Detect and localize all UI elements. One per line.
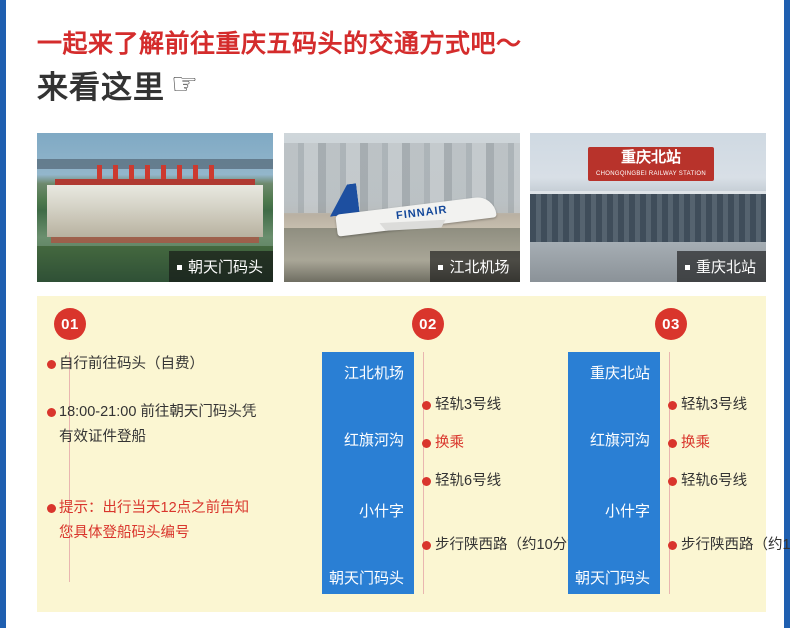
station-building-decor <box>530 191 766 246</box>
step-badge-03: 03 <box>655 308 687 340</box>
route-leg-walk: 步行陕西路（约10分钟） <box>681 534 790 556</box>
station-sign-en: CHONGQINGBEI RAILWAY STATION <box>588 166 714 183</box>
page-root: 一起来了解前往重庆五码头的交通方式吧～ 来看这里 ☞ 朝天门码头 FINNAIR… <box>0 0 790 628</box>
timeline-item-note: 提示：出行当天12点之前告知您具体登船码头编号 <box>59 496 259 546</box>
route-leg-transfer: 换乘 <box>681 432 710 454</box>
route-dot-icon <box>668 439 677 448</box>
route-leg-text: 轻轨3号线 <box>435 397 501 413</box>
route-dot-icon <box>422 541 431 550</box>
route-station: 小什字 <box>605 500 650 521</box>
route-dot-icon <box>668 541 677 550</box>
station-sign: 重庆北站 CHONGQINGBEI RAILWAY STATION <box>588 147 714 181</box>
roof-decor <box>55 179 255 189</box>
page-subtitle: 来看这里 ☞ <box>37 62 199 107</box>
route-timeline-line <box>423 352 424 594</box>
route-dot-icon <box>422 401 431 410</box>
timeline-item-text: 自行前往码头（自费） <box>59 356 204 372</box>
photo-chongqingbei-station: 重庆北站 CHONGQINGBEI RAILWAY STATION 重庆北站 <box>530 133 766 282</box>
route-station: 小什字 <box>359 500 404 521</box>
route-station: 朝天门码头 <box>329 567 404 588</box>
route-leg: 轻轨3号线 <box>681 394 747 416</box>
route-stations-box: 重庆北站 红旗河沟 小什字 朝天门码头 <box>568 352 660 594</box>
transport-options-panel: 01 自行前往码头（自费） 18:00-21:00 前往朝天门码头凭有效证件登船… <box>37 296 766 612</box>
route-leg-text: 轻轨6号线 <box>681 473 747 489</box>
transport-option-01: 01 自行前往码头（自费） 18:00-21:00 前往朝天门码头凭有效证件登船… <box>37 296 277 612</box>
route-leg-transfer: 换乘 <box>435 432 464 454</box>
transport-option-02: 02 江北机场 红旗河沟 小什字 朝天门码头 轻轨3号线 换乘 <box>282 296 524 612</box>
page-title-red: 一起来了解前往重庆五码头的交通方式吧～ <box>37 24 522 60</box>
timeline-item: 自行前往码头（自费） <box>59 352 259 377</box>
station-sign-cn: 重庆北站 <box>588 149 714 166</box>
caption-bullet-icon <box>685 265 690 270</box>
route-station: 重庆北站 <box>590 362 650 383</box>
route-dot-icon <box>668 401 677 410</box>
route-leg-text: 换乘 <box>435 435 464 451</box>
route-dot-icon <box>422 477 431 486</box>
route-leg-text: 轻轨6号线 <box>435 473 501 489</box>
route-leg: 轻轨6号线 <box>435 470 501 492</box>
route-leg-text: 换乘 <box>681 435 710 451</box>
timeline-dot-icon <box>47 360 56 369</box>
photo-caption-text: 江北机场 <box>449 256 509 277</box>
timeline-dot-icon <box>47 408 56 417</box>
photo-gallery: 朝天门码头 FINNAIR 江北机场 重庆北站 CHONGQINGBEI RAI… <box>37 133 766 282</box>
timeline-dot-icon <box>47 504 56 513</box>
timeline-item-text: 提示：出行当天12点之前告知您具体登船码头编号 <box>59 500 249 541</box>
photo-caption: 重庆北站 <box>677 251 766 282</box>
route-dot-icon <box>422 439 431 448</box>
transport-option-03: 03 重庆北站 红旗河沟 小什字 朝天门码头 轻轨3号线 换乘 <box>537 296 766 612</box>
photo-caption: 朝天门码头 <box>169 251 273 282</box>
step-badge-02: 02 <box>412 308 444 340</box>
step-badge-01: 01 <box>54 308 86 340</box>
transport-columns: 01 自行前往码头（自费） 18:00-21:00 前往朝天门码头凭有效证件登船… <box>37 296 766 612</box>
route-station: 红旗河沟 <box>590 429 650 450</box>
route-station: 红旗河沟 <box>344 429 404 450</box>
caption-bullet-icon <box>438 265 443 270</box>
timeline-line <box>69 352 70 582</box>
route-station: 朝天门码头 <box>575 567 650 588</box>
pointing-hand-icon: ☞ <box>171 70 199 100</box>
caption-bullet-icon <box>177 265 182 270</box>
route-leg-text: 轻轨3号线 <box>681 397 747 413</box>
route-leg: 轻轨6号线 <box>681 470 747 492</box>
route-stations-box: 江北机场 红旗河沟 小什字 朝天门码头 <box>322 352 414 594</box>
photo-caption-text: 朝天门码头 <box>188 256 263 277</box>
photo-caption-text: 重庆北站 <box>696 256 756 277</box>
timeline-item-text: 18:00-21:00 前往朝天门码头凭有效证件登船 <box>59 404 256 445</box>
timeline-item: 18:00-21:00 前往朝天门码头凭有效证件登船 <box>59 400 259 450</box>
route-timeline-line <box>669 352 670 594</box>
page-subtitle-text: 来看这里 <box>37 62 165 107</box>
photo-jiangbei-airport: FINNAIR 江北机场 <box>284 133 520 282</box>
route-leg: 轻轨3号线 <box>435 394 501 416</box>
photo-chaotianmen-dock: 朝天门码头 <box>37 133 273 282</box>
route-dot-icon <box>668 477 677 486</box>
photo-caption: 江北机场 <box>430 251 519 282</box>
route-leg-text: 步行陕西路（约10分钟） <box>681 537 790 553</box>
route-station: 江北机场 <box>344 362 404 383</box>
